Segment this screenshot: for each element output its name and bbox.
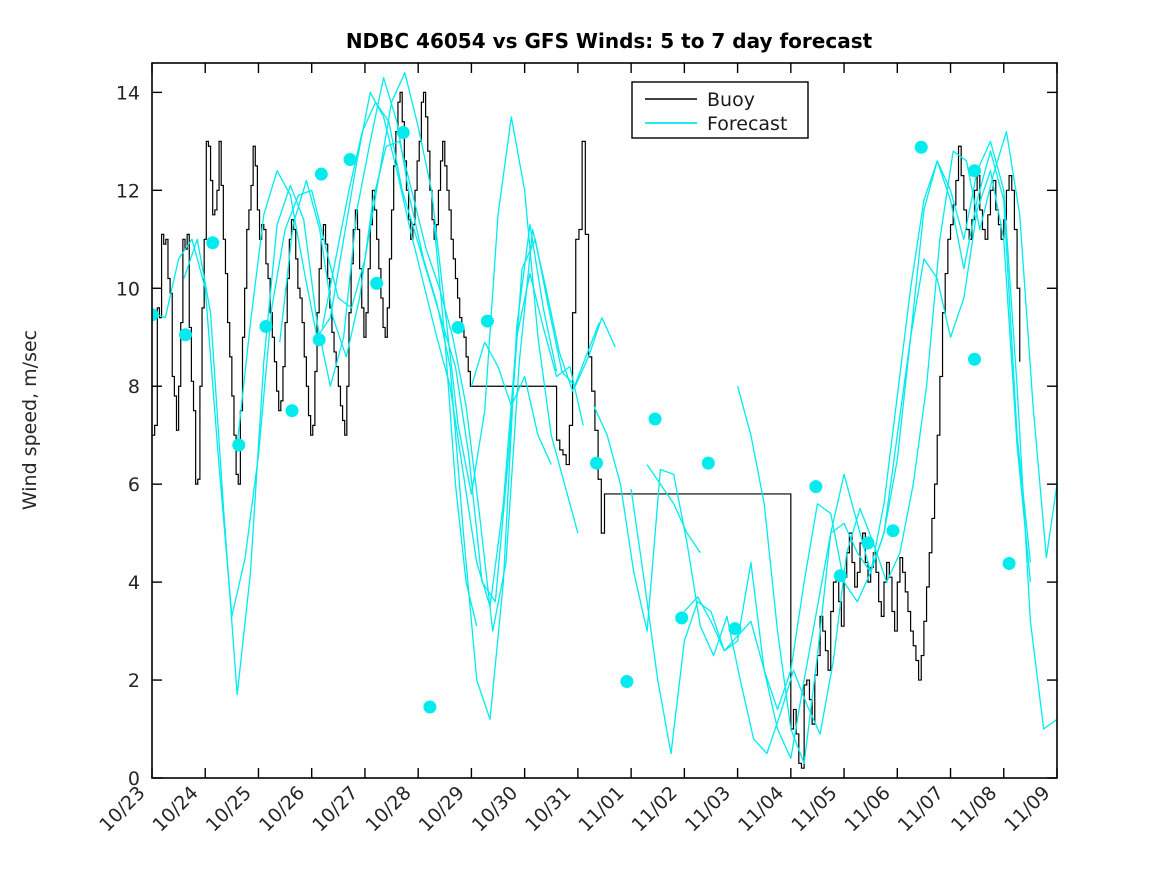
scatter-marker [834,569,847,582]
y-axis-label: Wind speed, m/sec [19,330,41,510]
scatter-marker [315,168,328,181]
legend-label-buoy: Buoy [707,89,755,111]
scatter-marker [313,333,326,346]
scatter-marker [259,320,272,333]
scatter-marker [862,536,875,549]
scatter-marker [809,480,822,493]
scatter-marker [887,524,900,537]
scatter-marker [344,153,357,166]
y-tick-label: 4 [128,572,140,594]
legend[interactable]: Buoy Forecast [632,82,808,138]
scatter-marker [968,353,981,366]
scatter-marker [728,622,741,635]
wind-speed-chart: NDBC 46054 vs GFS Winds: 5 to 7 day fore… [0,0,1167,875]
y-tick-label: 10 [116,278,140,300]
scatter-marker [675,611,688,624]
scatter-marker [397,126,410,139]
scatter-marker [1003,557,1016,570]
y-tick-label: 14 [116,82,140,104]
scatter-marker [702,457,715,470]
y-tick-label: 8 [128,376,140,398]
scatter-marker [968,164,981,177]
y-tick-label: 6 [128,474,140,496]
y-tick-label: 2 [128,670,140,692]
y-tick-label: 12 [116,180,140,202]
scatter-marker [649,413,662,426]
scatter-marker [620,675,633,688]
scatter-marker [481,315,494,328]
chart-page: NDBC 46054 vs GFS Winds: 5 to 7 day fore… [0,0,1167,875]
scatter-marker [286,404,299,417]
chart-title: NDBC 46054 vs GFS Winds: 5 to 7 day fore… [346,29,873,53]
scatter-marker [206,236,219,249]
scatter-marker [179,328,192,341]
scatter-marker [423,700,436,713]
scatter-marker [370,277,383,290]
scatter-marker [232,438,245,451]
scatter-marker [915,141,928,154]
legend-label-forecast: Forecast [707,113,787,135]
scatter-marker [590,457,603,470]
chart-background [0,0,1167,875]
scatter-marker [452,321,465,334]
